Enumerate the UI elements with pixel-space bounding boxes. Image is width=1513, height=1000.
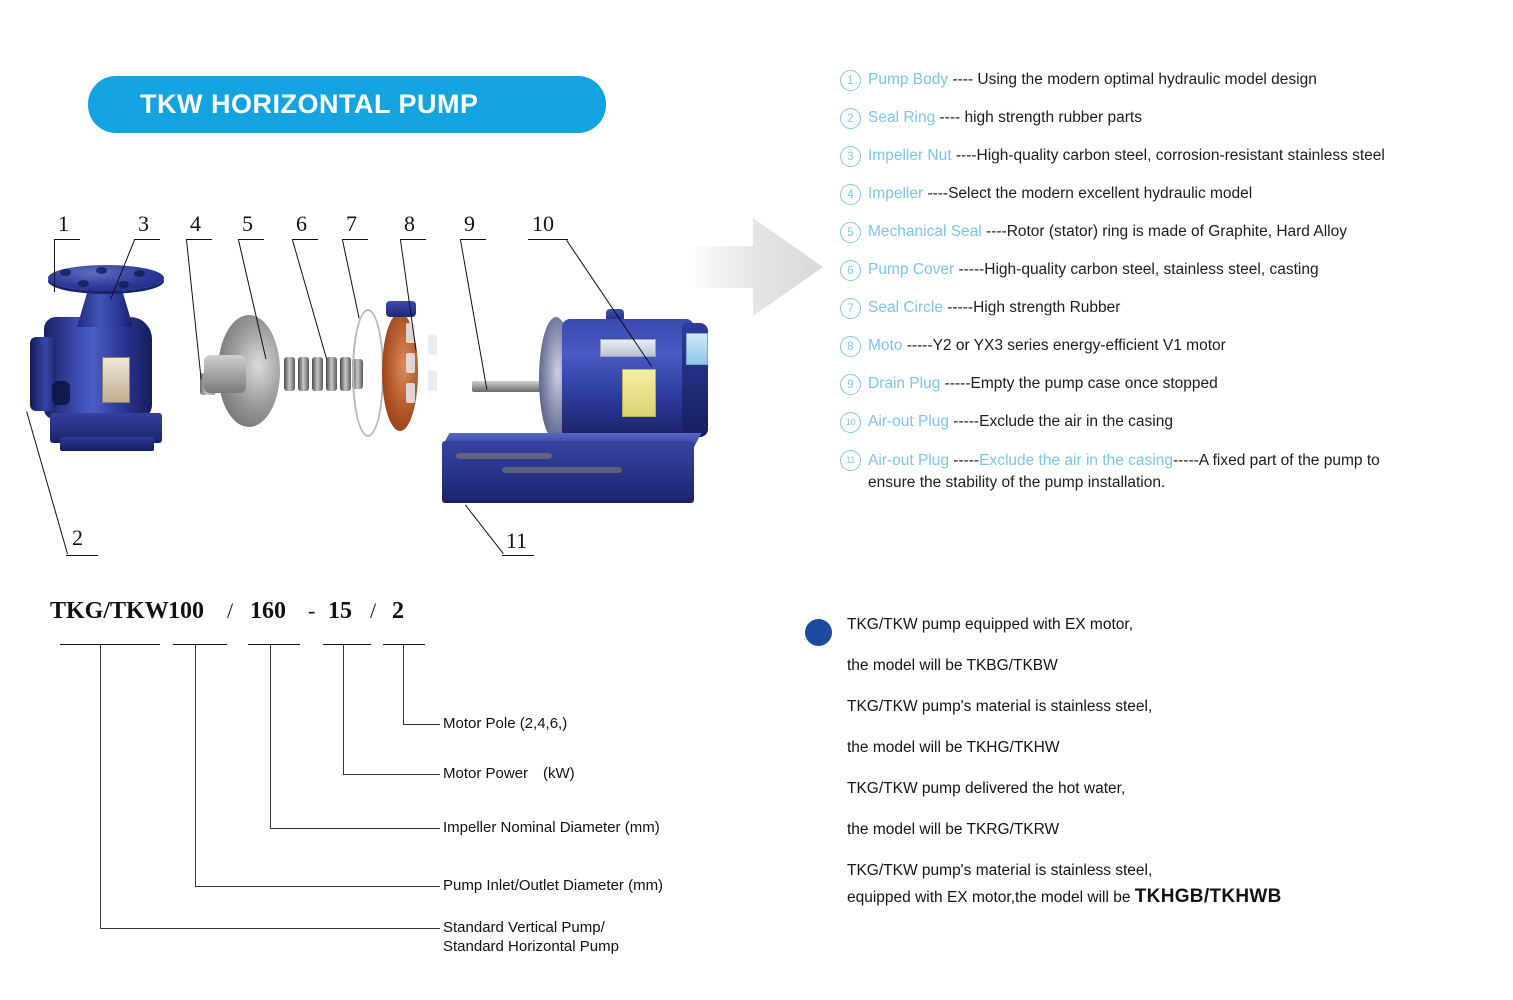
model-label-pole: Motor Pole (2,4,6,) bbox=[443, 714, 567, 733]
model-separator-2: - bbox=[308, 598, 315, 624]
model-segment-power: 15 bbox=[328, 598, 352, 625]
callout-1: 1 bbox=[58, 213, 69, 235]
legend-part-name-7: Seal Circle bbox=[868, 299, 943, 316]
model-separator-1: / bbox=[227, 598, 233, 624]
right-arrow-icon bbox=[695, 216, 825, 318]
legend-number-8: 8 bbox=[840, 336, 861, 357]
model-bar-power bbox=[323, 644, 371, 645]
callout-5: 5 bbox=[242, 213, 253, 235]
model-label-series-line2: Standard Horizontal Pump bbox=[443, 938, 619, 955]
legend-dash-3: ---- bbox=[952, 147, 977, 164]
legend-desc-1: Using the modern optimal hydraulic model… bbox=[977, 71, 1316, 88]
model-label-impeller: Impeller Nominal Diameter (mm) bbox=[443, 818, 660, 837]
legend-part-name-1: Pump Body bbox=[868, 71, 948, 88]
callout-11: 11 bbox=[506, 530, 527, 552]
legend-number-7: 7 bbox=[840, 298, 861, 319]
legend-text-9: Drain Plug -----Empty the pump case once… bbox=[868, 374, 1505, 394]
model-label-series-line1: Standard Vertical Pump/ bbox=[443, 919, 605, 936]
legend-number-9: 9 bbox=[840, 374, 861, 395]
legend-part-name-6: Pump Cover bbox=[868, 261, 954, 278]
legend-dash-5: ---- bbox=[982, 223, 1007, 240]
pump-neck bbox=[77, 285, 133, 327]
legend-desc-8: Y2 or YX3 series energy-efficient V1 mot… bbox=[933, 337, 1226, 354]
legend-desc-4: Select the modern excellent hydraulic mo… bbox=[948, 185, 1252, 202]
legend-part-name-8: Moto bbox=[868, 337, 902, 354]
legend-dash-4: ---- bbox=[923, 185, 948, 202]
legend-part-name-5: Mechanical Seal bbox=[868, 223, 982, 240]
legend-dash-9: ----- bbox=[940, 375, 970, 392]
model-leader-v-power bbox=[343, 644, 344, 774]
model-leader-v-series bbox=[100, 644, 101, 928]
baseplate-part bbox=[442, 441, 694, 503]
legend-dash-7: ----- bbox=[943, 299, 973, 316]
model-leader-v-pole bbox=[403, 644, 404, 724]
legend-part-name-11: Air-out Plug bbox=[868, 452, 949, 469]
legend-text-4: Impeller ----Select the modern excellent… bbox=[868, 184, 1505, 204]
legend-part-name-2: Seal Ring bbox=[868, 109, 935, 126]
legend-dash-2: ---- bbox=[935, 109, 964, 126]
motor-terminal-box bbox=[622, 369, 656, 417]
model-leader-h-impeller bbox=[270, 828, 440, 829]
callout-10: 10 bbox=[532, 213, 554, 235]
legend-text-8: Moto -----Y2 or YX3 series energy-effici… bbox=[868, 336, 1505, 356]
pump-foot bbox=[60, 437, 154, 451]
motor-sticker bbox=[686, 333, 708, 365]
model-leader-h-series bbox=[100, 928, 440, 929]
model-leader-h-power bbox=[343, 774, 440, 775]
legend-dash-1: ---- bbox=[948, 71, 977, 88]
legend-desc-7: High strength Rubber bbox=[973, 299, 1120, 316]
note-line-1: TKG/TKW pump equipped with EX motor, bbox=[847, 615, 1425, 635]
legend-dash-8: ----- bbox=[902, 337, 932, 354]
exploded-pump-diagram: 1 3 4 5 6 7 8 9 10 2 11 bbox=[34, 205, 694, 565]
model-leader-v-impeller bbox=[270, 644, 271, 828]
page-title-banner: TKW HORIZONTAL PUMP bbox=[88, 76, 606, 133]
model-code-breakdown: TKG/TKW 100 / 160 - 15 / 2 Motor Pole (2… bbox=[40, 598, 740, 968]
pump-top-flange bbox=[48, 265, 164, 291]
legend-number-10: 10 bbox=[840, 412, 861, 433]
page-title: TKW HORIZONTAL PUMP bbox=[140, 89, 478, 120]
note-line-4: the model will be TKHG/TKHW bbox=[847, 738, 1425, 758]
legend-text-11: Air-out Plug -----Exclude the air in the… bbox=[868, 450, 1505, 494]
legend-desc-2: high strength rubber parts bbox=[964, 109, 1142, 126]
model-leader-v-inlet bbox=[195, 644, 196, 886]
legend-number-11: 11 bbox=[840, 450, 861, 471]
legend-desc-9: Empty the pump case once stopped bbox=[971, 375, 1218, 392]
note-line-2: the model will be TKBG/TKBW bbox=[847, 656, 1425, 676]
legend-desc-11: A fixed part of the pump to bbox=[1199, 452, 1380, 469]
model-bar-series bbox=[60, 644, 160, 645]
note-line-7: TKG/TKW pump's material is stainless ste… bbox=[847, 861, 1425, 881]
callout-2: 2 bbox=[72, 527, 83, 549]
callout-8: 8 bbox=[404, 213, 415, 235]
model-label-power: Motor Power (kW) bbox=[443, 764, 575, 783]
legend-desc-10: Exclude the air in the casing bbox=[979, 413, 1173, 430]
model-label-series: Standard Vertical Pump/ Standard Horizon… bbox=[443, 918, 619, 956]
callout-7: 7 bbox=[346, 213, 357, 235]
legend-text-2: Seal Ring ---- high strength rubber part… bbox=[868, 108, 1505, 128]
legend-number-4: 4 bbox=[840, 184, 861, 205]
legend-item-2: 2 Seal Ring ---- high strength rubber pa… bbox=[840, 108, 1505, 129]
model-segment-series: TKG/TKW bbox=[50, 598, 169, 625]
model-variant-notes: TKG/TKW pump equipped with EX motor, the… bbox=[805, 615, 1425, 929]
legend-item-7: 7 Seal Circle -----High strength Rubber bbox=[840, 298, 1505, 319]
legend-item-8: 8 Moto -----Y2 or YX3 series energy-effi… bbox=[840, 336, 1505, 357]
legend-text-1: Pump Body ---- Using the modern optimal … bbox=[868, 70, 1505, 90]
legend-part-name-9: Drain Plug bbox=[868, 375, 940, 392]
model-segment-impeller: 160 bbox=[250, 598, 286, 625]
legend-number-5: 5 bbox=[840, 222, 861, 243]
legend-dash1-11: ----- bbox=[949, 452, 979, 469]
legend-text-10: Air-out Plug -----Exclude the air in the… bbox=[868, 412, 1505, 432]
model-bar-impeller bbox=[248, 644, 300, 645]
callout-4: 4 bbox=[190, 213, 201, 235]
parts-legend: 1 Pump Body ---- Using the modern optima… bbox=[840, 70, 1505, 494]
legend-item-1: 1 Pump Body ---- Using the modern optima… bbox=[840, 70, 1505, 91]
note-line-8-model: TKHGB/TKHWB bbox=[1135, 886, 1282, 907]
legend-part-name-3: Impeller Nut bbox=[868, 147, 952, 164]
legend-text-6: Pump Cover -----High-quality carbon stee… bbox=[868, 260, 1505, 280]
legend-item-3: 3 Impeller Nut ----High-quality carbon s… bbox=[840, 146, 1505, 167]
legend-desc-3: High-quality carbon steel, corrosion-res… bbox=[977, 147, 1385, 164]
legend-item-10: 10 Air-out Plug -----Exclude the air in … bbox=[840, 412, 1505, 433]
legend-item-5: 5 Mechanical Seal ----Rotor (stator) rin… bbox=[840, 222, 1505, 243]
legend-blue-desc-11: Exclude the air in the casing bbox=[979, 452, 1173, 469]
model-bar-inlet bbox=[173, 644, 227, 645]
callout-3: 3 bbox=[138, 213, 149, 235]
pump-cover-part bbox=[394, 305, 456, 439]
bullet-dot-icon bbox=[805, 619, 832, 646]
legend-dash-10: ----- bbox=[949, 413, 979, 430]
model-label-inlet: Pump Inlet/Outlet Diameter (mm) bbox=[443, 876, 663, 895]
note-line-8-pre: equipped with EX motor,the model will be bbox=[847, 889, 1135, 906]
legend-item-6: 6 Pump Cover -----High-quality carbon st… bbox=[840, 260, 1505, 281]
motor-nameplate bbox=[600, 339, 656, 357]
model-separator-3: / bbox=[370, 598, 376, 624]
legend-item-4: 4 Impeller ----Select the modern excelle… bbox=[840, 184, 1505, 205]
legend-number-6: 6 bbox=[840, 260, 861, 281]
legend-text-5: Mechanical Seal ----Rotor (stator) ring … bbox=[868, 222, 1505, 242]
legend-number-3: 3 bbox=[840, 146, 861, 167]
model-bar-pole bbox=[383, 644, 425, 645]
legend-number-2: 2 bbox=[840, 108, 861, 129]
legend-desc-5: Rotor (stator) ring is made of Graphite,… bbox=[1007, 223, 1347, 240]
impeller-hub bbox=[204, 355, 246, 393]
legend-text-7: Seal Circle -----High strength Rubber bbox=[868, 298, 1505, 318]
model-segment-inlet: 100 bbox=[168, 598, 204, 625]
note-line-8: equipped with EX motor,the model will be… bbox=[847, 887, 1425, 908]
note-line-6: the model will be TKRG/TKRW bbox=[847, 820, 1425, 840]
note-line-5: TKG/TKW pump delivered the hot water, bbox=[847, 779, 1425, 799]
legend-text-3: Impeller Nut ----High-quality carbon ste… bbox=[868, 146, 1505, 166]
legend-item-11: 11 Air-out Plug -----Exclude the air in … bbox=[840, 450, 1505, 494]
callout-6: 6 bbox=[296, 213, 307, 235]
legend-number-1: 1 bbox=[840, 70, 861, 91]
legend-part-name-10: Air-out Plug bbox=[868, 413, 949, 430]
callout-9: 9 bbox=[464, 213, 475, 235]
legend-dash-6: ----- bbox=[954, 261, 984, 278]
model-leader-h-inlet bbox=[195, 886, 440, 887]
seal-circle-part bbox=[352, 309, 384, 437]
model-leader-h-pole bbox=[403, 724, 440, 725]
note-line-3: TKG/TKW pump's material is stainless ste… bbox=[847, 697, 1425, 717]
legend-desc-11-line2: ensure the stability of the pump install… bbox=[868, 474, 1165, 491]
legend-desc-6: High-quality carbon steel, stainless ste… bbox=[984, 261, 1318, 278]
pump-nameplate bbox=[102, 357, 130, 403]
drain-plug-port bbox=[52, 381, 70, 405]
legend-part-name-4: Impeller bbox=[868, 185, 923, 202]
mechanical-seal-part bbox=[284, 357, 362, 393]
legend-item-9: 9 Drain Plug -----Empty the pump case on… bbox=[840, 374, 1505, 395]
model-segment-pole: 2 bbox=[392, 598, 404, 625]
legend-dash2-11: ----- bbox=[1173, 452, 1199, 469]
